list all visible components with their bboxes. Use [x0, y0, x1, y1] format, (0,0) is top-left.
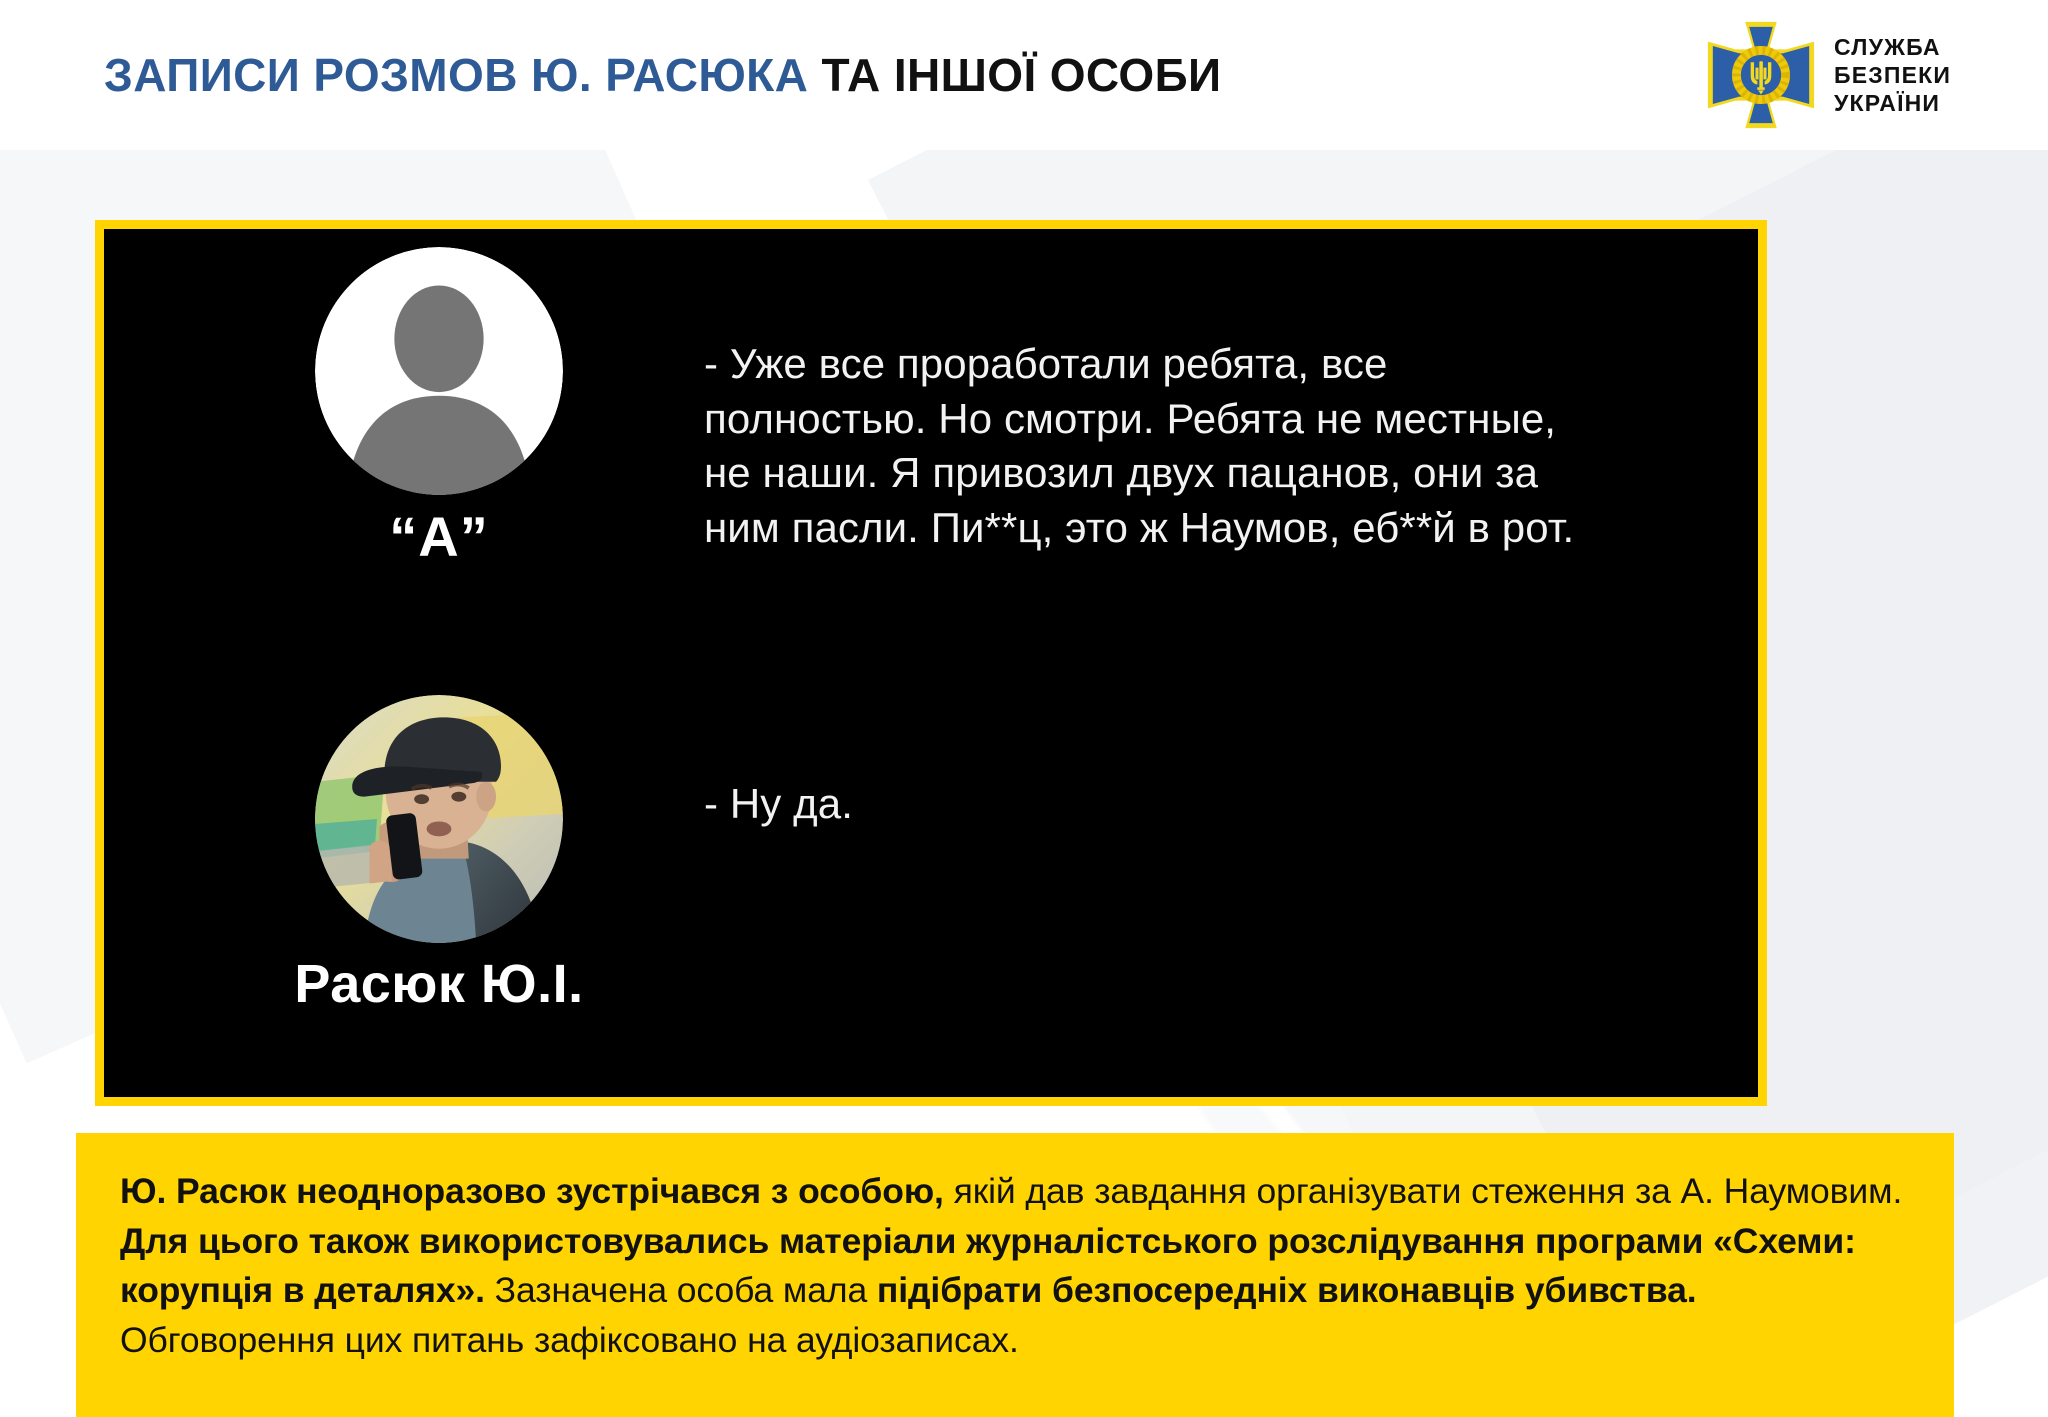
sbu-wordmark-line-2: БЕЗПЕКИ: [1834, 63, 1951, 87]
caption-box: Ю. Расюк неодноразово зустрічався з особ…: [76, 1133, 1954, 1417]
caption-segment-4: підібрати безпосередніх виконавців убивс…: [877, 1270, 1697, 1310]
speaker-column-rasiuk: Расюк Ю.І.: [229, 695, 649, 1011]
conversation-panel: “A” - Уже все проработали ребята, все по…: [95, 220, 1767, 1106]
page-title: ЗАПИСИ РОЗМОВ Ю. РАСЮКА ТА ІНШОЇ ОСОБИ: [104, 52, 1222, 98]
rasiuk-photo-avatar-icon: [315, 695, 563, 943]
speaker-block-rasiuk: Расюк Ю.І.: [229, 695, 649, 1011]
sbu-emblem-icon: [1702, 16, 1820, 134]
caption-text: Ю. Расюк неодноразово зустрічався з особ…: [120, 1167, 1910, 1366]
caption-segment-1: якій дав завдання організувати стеження …: [944, 1171, 1902, 1211]
caption-segment-0: Ю. Расюк неодноразово зустрічався з особ…: [120, 1171, 944, 1211]
speaker-block-anonymous: “A”: [229, 247, 649, 565]
page-title-highlight: ЗАПИСИ РОЗМОВ Ю. РАСЮКА: [104, 49, 808, 101]
speaker-name-rasiuk: Расюк Ю.І.: [294, 957, 583, 1011]
quote-text-anonymous: - Уже все проработали ребята, все полнос…: [704, 337, 1764, 555]
sbu-wordmark-line-3: УКРАЇНИ: [1834, 91, 1951, 115]
caption-segment-3: Зазначена особа мала: [485, 1270, 877, 1310]
speaker-column-anonymous: “A”: [229, 247, 649, 565]
page-title-rest: ТА ІНШОЇ ОСОБИ: [821, 49, 1221, 101]
caption-segment-5: Обговорення цих питань зафіксовано на ау…: [120, 1320, 1019, 1360]
anonymous-person-avatar-icon: [315, 247, 563, 495]
slide-header: ЗАПИСИ РОЗМОВ Ю. РАСЮКА ТА ІНШОЇ ОСОБИ: [0, 0, 2048, 150]
sbu-logo: СЛУЖБА БЕЗПЕКИ УКРАЇНИ: [1702, 16, 2014, 134]
sbu-wordmark: СЛУЖБА БЕЗПЕКИ УКРАЇНИ: [1834, 35, 1951, 115]
sbu-wordmark-line-1: СЛУЖБА: [1834, 35, 1951, 59]
speaker-name-anonymous: “A”: [389, 509, 488, 565]
quote-text-rasiuk: - Ну да.: [704, 777, 1304, 832]
